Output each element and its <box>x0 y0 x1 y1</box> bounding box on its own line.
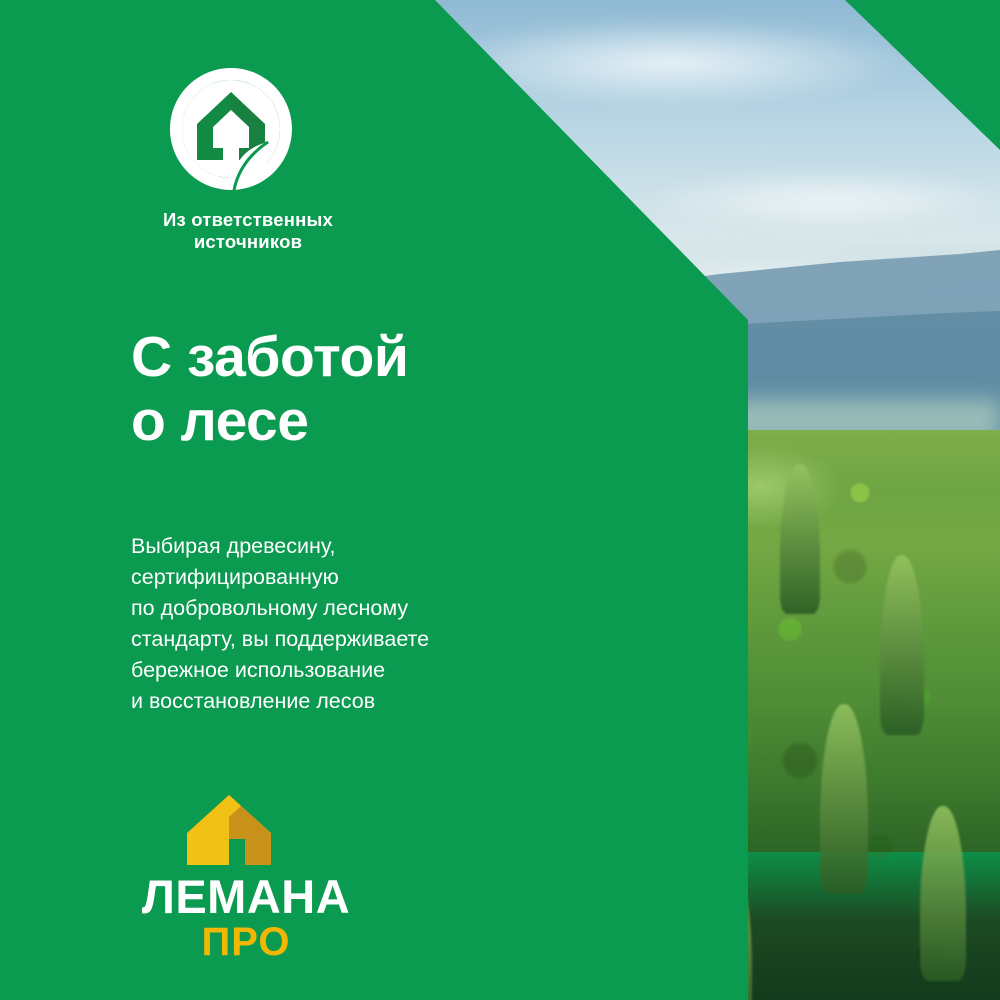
body-copy: Выбирая древесину, сертифицированную по … <box>131 531 429 717</box>
brand-sub: ПРО <box>131 922 361 962</box>
tree-silhouette <box>820 704 868 894</box>
certification-badge: Из ответственных источников <box>128 62 368 253</box>
brand-name: ЛЕМАНА <box>131 873 361 920</box>
tree-silhouette <box>920 806 966 981</box>
poster-root: Из ответственных источников С заботой о … <box>0 0 1000 1000</box>
tree-silhouette <box>880 555 924 735</box>
page-title: С заботой о лесе <box>131 326 408 454</box>
certification-caption: Из ответственных источников <box>128 209 368 253</box>
tree-silhouette <box>780 464 820 614</box>
cloud-icon <box>640 170 1000 230</box>
house-roof-icon <box>185 793 273 867</box>
brand-lockup: ЛЕМАНА ПРО <box>131 793 361 962</box>
responsible-sources-mark-icon <box>164 62 298 196</box>
